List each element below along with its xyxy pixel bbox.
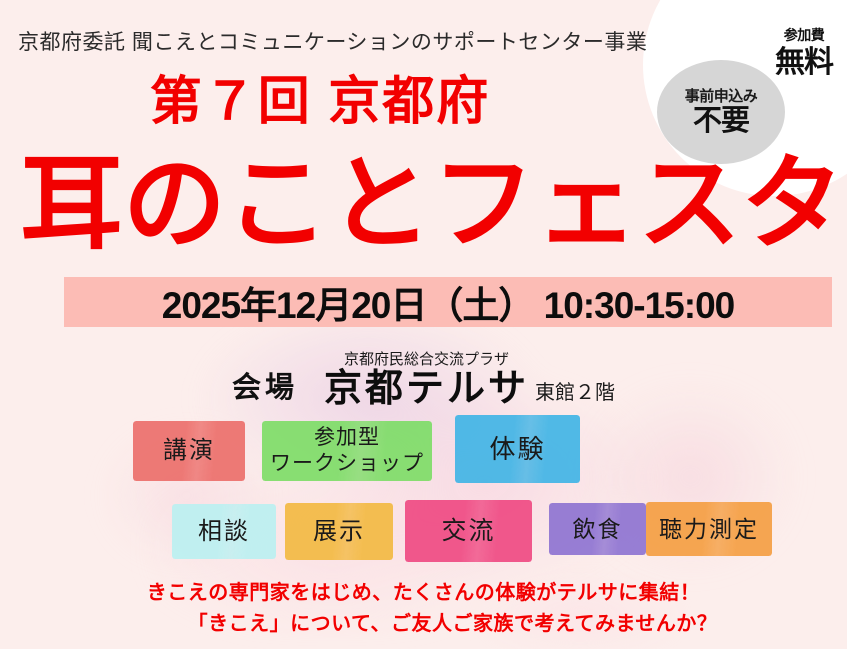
footer-line-1: きこえの専門家をはじめ、たくさんの体験がテルサに集結！ bbox=[147, 582, 701, 604]
title-edition: 第７回 京都府 bbox=[0, 76, 640, 128]
category-tag: 展示 bbox=[285, 503, 393, 560]
footer-copy: きこえの専門家をはじめ、たくさんの体験がテルサに集結！ 「きこえ」について、ご友… bbox=[0, 578, 847, 640]
venue-lead-label: 会場 bbox=[232, 364, 298, 408]
category-tag-label: 参加型 ワークショップ bbox=[270, 425, 424, 476]
date-banner: 2025年12月20日（土） 10:30-15:00 bbox=[64, 277, 832, 327]
date-banner-text: 2025年12月20日（土） 10:30-15:00 bbox=[162, 275, 735, 329]
fee-badge-value: 無料 bbox=[762, 48, 846, 78]
category-tag: 体験 bbox=[455, 415, 580, 483]
fee-badge: 参加費 無料 bbox=[762, 28, 846, 78]
header-kicker: 京都府委託 聞こえとコミュニケーションのサポートセンター事業 bbox=[18, 26, 647, 56]
reservation-badge-value: 不要 bbox=[693, 107, 749, 136]
venue-name: 京都テルサ bbox=[324, 370, 529, 408]
category-tag-label: 相談 bbox=[198, 520, 250, 544]
venue-ruby: 京都府民総合交流プラザ bbox=[324, 348, 529, 369]
category-tag-label: 展示 bbox=[313, 520, 365, 544]
category-tag-label: 飲食 bbox=[573, 518, 623, 541]
page-title: 耳のことフェスタ bbox=[20, 150, 840, 258]
category-tag: 交流 bbox=[405, 500, 532, 562]
reservation-badge-label: 事前申込み bbox=[685, 89, 758, 104]
category-tag-label: 交流 bbox=[441, 519, 495, 544]
fee-badge-label: 参加費 bbox=[784, 27, 825, 43]
category-tag: 講演 bbox=[133, 421, 245, 481]
footer-line-2: 「きこえ」について、ご友人ご家族で考えてみませんか？ bbox=[0, 609, 847, 640]
category-tag-label: 聴力測定 bbox=[659, 518, 759, 541]
venue-block: 会場 京都府民総合交流プラザ 京都テルサ 東館２階 bbox=[0, 348, 847, 408]
venue-name-group: 京都府民総合交流プラザ 京都テルサ bbox=[324, 348, 529, 408]
category-tag: 参加型 ワークショップ bbox=[262, 421, 432, 481]
poster-root: 参加費 無料 事前申込み 不要 京都府委託 聞こえとコミュニケーションのサポート… bbox=[0, 0, 847, 649]
category-tag: 飲食 bbox=[549, 503, 646, 555]
venue-suffix: 東館２階 bbox=[535, 376, 615, 408]
category-tag: 聴力測定 bbox=[646, 502, 772, 556]
category-tag: 相談 bbox=[172, 504, 276, 559]
category-tag-label: 講演 bbox=[163, 439, 215, 463]
category-tag-label: 体験 bbox=[489, 436, 545, 462]
